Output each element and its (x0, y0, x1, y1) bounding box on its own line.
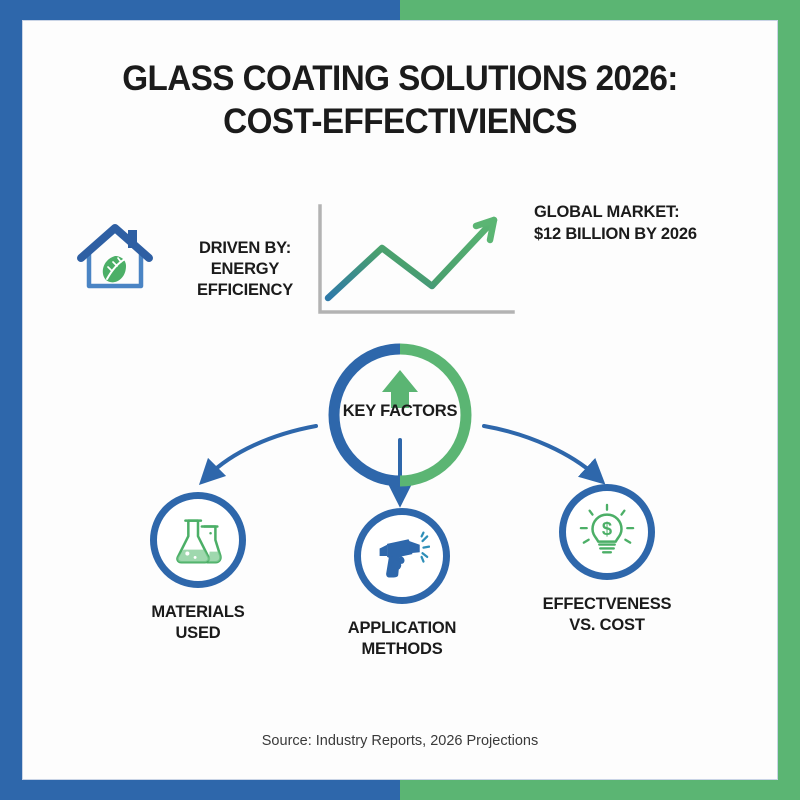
source-note: Source: Industry Reports, 2026 Projectio… (0, 733, 800, 749)
driven-by-row: DRIVEN BY: ENERGY EFFICIENCY (60, 190, 740, 330)
node-label-application-line-1: APPLICATION (317, 618, 487, 639)
node-circle-materials (150, 492, 246, 588)
node-label-effectiveness-line-2: VS. COST (522, 615, 692, 636)
eco-house-icon (76, 220, 154, 292)
market-trend-chart (308, 198, 520, 324)
key-factors-hub[interactable]: KEY FACTORS (325, 340, 475, 490)
node-label-effectiveness: EFFECTVENESS VS. COST (522, 594, 692, 636)
market-line-1: GLOBAL MARKET: (534, 202, 744, 224)
infographic-poster: GLASS COATING SOLUTIONS 2026: COST-EFFEC… (0, 0, 800, 800)
global-market-stat: GLOBAL MARKET: $12 BILLION BY 2026 (534, 202, 744, 246)
title-line-1: GLASS COATING SOLUTIONS 2026: (20, 58, 780, 101)
title-line-2: COST-EFFECTIVIENCS (20, 101, 780, 144)
driven-by-line-2: ENERGY EFFICIENCY (165, 259, 325, 301)
hub-label: KEY FACTORS (325, 402, 475, 421)
node-circle-application (354, 508, 450, 604)
driven-by-text: DRIVEN BY: ENERGY EFFICIENCY (165, 238, 325, 301)
node-label-application-line-2: METHODS (317, 639, 487, 660)
node-effectiveness-vs-cost[interactable]: $ EFFECTVENESS VS. COST (522, 484, 692, 636)
node-label-materials-line-1: MATERIALS (113, 602, 283, 623)
node-label-materials: MATERIALS USED (113, 602, 283, 644)
node-application-methods[interactable]: APPLICATION METHODS (317, 508, 487, 660)
page-title: GLASS COATING SOLUTIONS 2026: COST-EFFEC… (20, 58, 780, 143)
market-line-2: $12 BILLION BY 2026 (534, 224, 744, 246)
node-label-application: APPLICATION METHODS (317, 618, 487, 660)
svg-text:$: $ (602, 518, 612, 539)
driven-by-line-1: DRIVEN BY: (165, 238, 325, 259)
lightbulb-dollar-icon: $ (578, 503, 636, 561)
node-label-effectiveness-line-1: EFFECTVENESS (522, 594, 692, 615)
spray-gun-icon (374, 528, 430, 584)
node-circle-effectiveness: $ (559, 484, 655, 580)
node-label-materials-line-2: USED (113, 623, 283, 644)
node-materials-used[interactable]: MATERIALS USED (113, 492, 283, 644)
flask-beaker-icon (169, 511, 227, 569)
